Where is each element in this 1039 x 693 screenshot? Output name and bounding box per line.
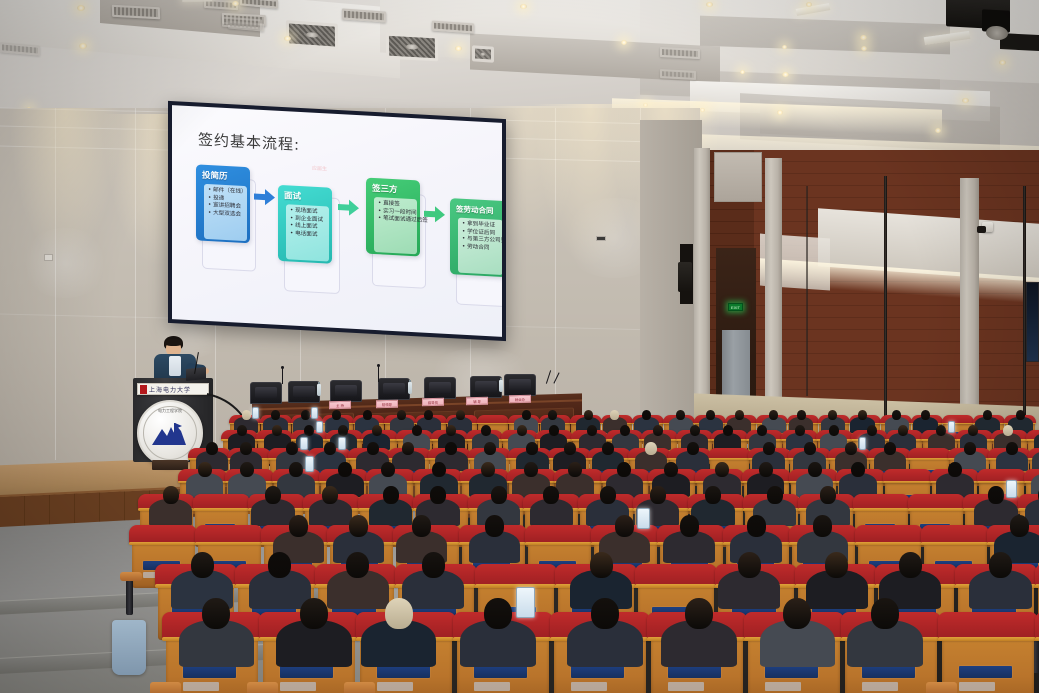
audience-member-hat <box>645 442 657 455</box>
seat-trim <box>1035 637 1039 641</box>
seat-armrest <box>150 682 181 693</box>
audience-member-head <box>690 425 700 436</box>
downlight <box>79 43 87 49</box>
seat-trim <box>908 508 965 510</box>
audience-member-head <box>367 442 379 455</box>
audience-member-head <box>921 410 930 420</box>
audience-member-head <box>884 442 896 455</box>
audience-member-head <box>642 410 651 420</box>
downlight <box>621 40 627 45</box>
flow-step-3-bullet: 笔试面试通过后签 <box>378 215 415 225</box>
audience-member-head <box>349 515 368 536</box>
audience-member-head <box>705 486 721 504</box>
seat-number-plate <box>959 666 1012 679</box>
audience-member-head <box>813 515 832 536</box>
flow-step-2: 面试 现场面试 到企业面试 线上面试 电话面试 <box>278 185 332 264</box>
audience-member-head <box>747 515 766 536</box>
table-chair <box>470 376 502 398</box>
smartphone[interactable] <box>305 456 314 471</box>
ceiling-vent <box>660 47 700 59</box>
flow-step-1-bullet: 大型双选会 <box>208 210 245 220</box>
exit-sign[interactable]: EXIT <box>728 303 743 311</box>
audience-member-head <box>983 410 992 420</box>
floor-backpack <box>112 620 146 675</box>
seat-sticker <box>765 682 802 690</box>
audience-member-hat <box>242 410 251 420</box>
audience-member-head <box>564 442 576 455</box>
air-conditioner-unit <box>472 45 494 63</box>
audience-member-hat <box>1003 425 1013 436</box>
wall-speaker <box>678 262 692 292</box>
audience-member-head <box>858 410 867 420</box>
flow-step-4: 签劳动合同 拿到毕业证 学位证后同 与第三方公司签 劳动合同 <box>450 198 502 277</box>
audience-member-head <box>829 425 839 436</box>
audience-member-head <box>484 598 512 629</box>
seat-trim <box>942 423 974 424</box>
audience-member-head <box>615 515 634 536</box>
smartphone[interactable] <box>637 508 650 529</box>
downlight <box>782 72 789 77</box>
seat-trim <box>525 542 593 545</box>
seat-trim <box>129 542 197 545</box>
slide-flow-diagram: 投简历 邮件（在线） 投递 宣讲招聘会 大型双选会 面试 现 <box>188 154 492 310</box>
presenter-shirt <box>169 356 181 376</box>
audience-member-head <box>767 486 783 504</box>
audience-member-head <box>517 425 527 436</box>
audience-member-head <box>268 552 291 578</box>
seat-number-plate <box>280 666 333 679</box>
downlight <box>777 110 783 115</box>
audience-member-head <box>485 515 504 536</box>
audience-member-head <box>484 442 496 455</box>
speaker-pole <box>806 186 808 396</box>
audience-member-hat <box>385 598 413 629</box>
podium-plate-mark <box>140 385 147 394</box>
slide-title: 签约基本流程: <box>198 128 300 155</box>
audience-member-head <box>237 425 247 436</box>
seat-sticker <box>571 682 608 690</box>
seat-number-plate <box>183 666 236 679</box>
seat-armrest <box>926 682 957 693</box>
audience-member-head <box>491 486 507 504</box>
seat-sticker <box>377 682 414 690</box>
flow-arrow-3 <box>424 205 446 224</box>
audience-member-head <box>591 598 619 629</box>
projection-screen: 签约基本流程: 应届生 投简历 邮件（在线） 投递 宣讲招聘会 大型双选会 <box>168 101 506 341</box>
smartphone[interactable] <box>859 437 867 450</box>
audience-member-head <box>590 552 613 578</box>
smartphone[interactable] <box>311 407 318 419</box>
seat-sticker <box>183 682 220 690</box>
audience-member-head <box>988 486 1004 504</box>
seat-trim <box>938 637 1037 641</box>
table-chair <box>504 374 536 396</box>
seat-sticker <box>668 682 705 690</box>
audience-member-head <box>845 442 857 455</box>
audience-member-head <box>568 462 582 478</box>
audience-member-head <box>549 425 559 436</box>
podium-nameplate: 上海电力大学 <box>137 383 209 395</box>
audience-member-head <box>795 425 805 436</box>
audience-member-head <box>680 515 699 536</box>
seat-trim <box>477 423 509 424</box>
table-microphone <box>378 366 379 382</box>
audience-member-head <box>324 442 336 455</box>
table-microphone-head <box>377 364 380 367</box>
pillar-top-panel <box>714 152 762 202</box>
seat-sticker <box>280 682 317 690</box>
seat-trim <box>635 584 717 587</box>
audience-member-head <box>526 442 538 455</box>
audience-member-head <box>286 442 298 455</box>
smartphone[interactable] <box>1006 480 1017 498</box>
audience-member-head <box>163 486 179 504</box>
audience-member-head <box>783 598 811 629</box>
seat-trim <box>908 458 950 460</box>
water-bottle <box>408 382 412 394</box>
water-bottle <box>317 384 321 396</box>
audience-member-head <box>964 442 976 455</box>
audience-member-head <box>1010 515 1029 536</box>
audience-member-head <box>820 486 836 504</box>
audience-member-head <box>301 410 310 420</box>
audience-member-head <box>338 462 352 478</box>
smartphone[interactable] <box>316 421 323 433</box>
audience-member-head <box>198 462 212 478</box>
seat-sticker <box>474 682 511 690</box>
audience-member-head <box>346 552 369 578</box>
audience-member-head <box>522 410 531 420</box>
audience-member-head <box>289 515 308 536</box>
audience-member-head <box>412 515 431 536</box>
seat-trim <box>977 481 1026 483</box>
audience-member-head <box>808 462 822 478</box>
audience-member-head <box>481 425 491 436</box>
audience-member-head <box>543 486 559 504</box>
smartphone[interactable] <box>300 437 308 450</box>
flow-arrow-1 <box>254 188 276 207</box>
audience-member-head <box>372 425 382 436</box>
seat-trim <box>1035 584 1039 587</box>
screen-surface: 签约基本流程: 应届生 投简历 邮件（在线） 投递 宣讲招聘会 大型双选会 <box>172 105 502 337</box>
audience-member-head <box>206 442 218 455</box>
downlight <box>77 5 85 11</box>
audience-member-head <box>191 552 214 578</box>
ceiling-vent <box>660 69 696 80</box>
audience-seating <box>0 400 1039 693</box>
seat-number-plate <box>571 666 624 679</box>
audience-member-head <box>723 425 733 436</box>
audience-member-head <box>432 462 446 478</box>
audience-member-head <box>650 486 666 504</box>
seat-sticker <box>959 682 996 690</box>
flow-step-2-bullet: 电话面试 <box>290 230 327 240</box>
flow-step-1: 投简历 邮件（在线） 投递 宣讲招聘会 大型双选会 <box>196 164 250 243</box>
table-microphone <box>282 368 283 384</box>
audience-member-head <box>445 442 457 455</box>
audience-member-head <box>202 598 230 629</box>
audience-member-head <box>989 552 1012 578</box>
wall-switch-plate <box>44 254 53 261</box>
water-bottle <box>499 380 503 392</box>
audience-member-head <box>524 462 538 478</box>
exit-sign-label: EXIT <box>731 305 740 310</box>
flow-arrow-2 <box>338 198 360 217</box>
seat-trim <box>855 542 923 545</box>
audience-member-head <box>871 598 899 629</box>
downlight <box>782 45 787 49</box>
downlight <box>706 2 713 7</box>
audience-member-head <box>825 552 848 578</box>
wall-monitor <box>1026 282 1039 362</box>
downlight <box>806 2 812 7</box>
seat-trim <box>195 542 263 545</box>
audience-member-head <box>240 442 252 455</box>
audience-member-head <box>584 410 593 420</box>
ceiling-vent <box>112 5 160 20</box>
downlight <box>860 35 867 40</box>
downlight <box>740 70 745 74</box>
air-conditioner-unit <box>286 20 338 50</box>
audience-member-head <box>1016 410 1025 420</box>
wall-switch-plate <box>596 236 606 241</box>
seat-number-plate <box>474 666 527 679</box>
presenter-fringe <box>165 339 182 346</box>
audience-member-head <box>240 462 254 478</box>
audience-member-head <box>738 552 761 578</box>
table-microphone-head <box>281 366 284 369</box>
audience-member-head <box>797 410 806 420</box>
downlight <box>935 128 941 133</box>
seat-trim <box>853 508 910 510</box>
audience-member-head <box>300 598 328 629</box>
downlight <box>861 46 867 51</box>
downlight <box>232 1 239 6</box>
flow-step-3: 签三方 直接签 实习一段时间 笔试面试通过后签 <box>366 178 420 257</box>
downlight <box>999 60 1006 65</box>
smartphone[interactable] <box>516 587 534 618</box>
seat-trim <box>921 542 989 545</box>
security-camera-icon <box>982 222 993 232</box>
audience-member-head <box>289 462 303 478</box>
seat-number-plate <box>862 666 915 679</box>
seat-armrest <box>247 682 278 693</box>
audience-member-head <box>735 410 744 420</box>
audience-member-head <box>383 486 399 504</box>
downlight <box>455 46 462 51</box>
downlight <box>962 98 969 103</box>
audience-member-head <box>412 425 422 436</box>
downlight <box>284 36 291 41</box>
table-chair <box>378 378 410 400</box>
audience-member-head <box>402 442 414 455</box>
ceiling-vent <box>0 42 40 55</box>
seat-number-plate <box>668 666 721 679</box>
audience-member-head <box>653 425 663 436</box>
seat-trim <box>193 508 250 510</box>
auditorium-photo: EXIT 签约基本流程: 应届生 投简历 邮 <box>0 0 1039 693</box>
podium-plate-text: 上海电力大学 <box>149 385 191 394</box>
audience-member-head <box>804 442 816 455</box>
audience-member-head <box>687 442 699 455</box>
audience-member-head <box>456 410 465 420</box>
audience-member-head <box>481 462 495 478</box>
audience-member-head <box>676 410 685 420</box>
audience-member-head <box>759 462 773 478</box>
air-conditioner-unit <box>386 33 438 62</box>
audience-member-head <box>430 486 446 504</box>
audience-member-head <box>271 410 280 420</box>
audience-member-head <box>867 425 877 436</box>
smartphone[interactable] <box>252 407 259 419</box>
audience-member-head <box>898 425 908 436</box>
audience-member-head <box>422 552 445 578</box>
audience-member-head <box>685 598 713 629</box>
table-chair <box>424 377 456 399</box>
audience-member-head <box>1006 442 1018 455</box>
table-chair <box>330 380 362 402</box>
smartphone[interactable] <box>338 437 346 450</box>
audience-member-head <box>600 486 616 504</box>
seat-sticker <box>862 682 899 690</box>
smartphone[interactable] <box>948 421 955 433</box>
seat-armrest <box>120 572 141 581</box>
seat-number-plate <box>377 666 430 679</box>
audience-member-head <box>363 410 372 420</box>
speaker-pole <box>884 176 887 422</box>
audience-member-head <box>763 442 775 455</box>
seat-trim <box>883 481 932 483</box>
seat-arm-post <box>126 580 134 615</box>
seat-trim <box>708 458 750 460</box>
laptop <box>186 367 206 381</box>
audience-member-head <box>265 486 281 504</box>
audience-member-head <box>899 552 922 578</box>
seat-armrest <box>344 682 375 693</box>
audience-member-head <box>602 442 614 455</box>
seat-number-plate <box>765 666 818 679</box>
audience-member-head <box>322 486 338 504</box>
downlight <box>520 4 527 9</box>
